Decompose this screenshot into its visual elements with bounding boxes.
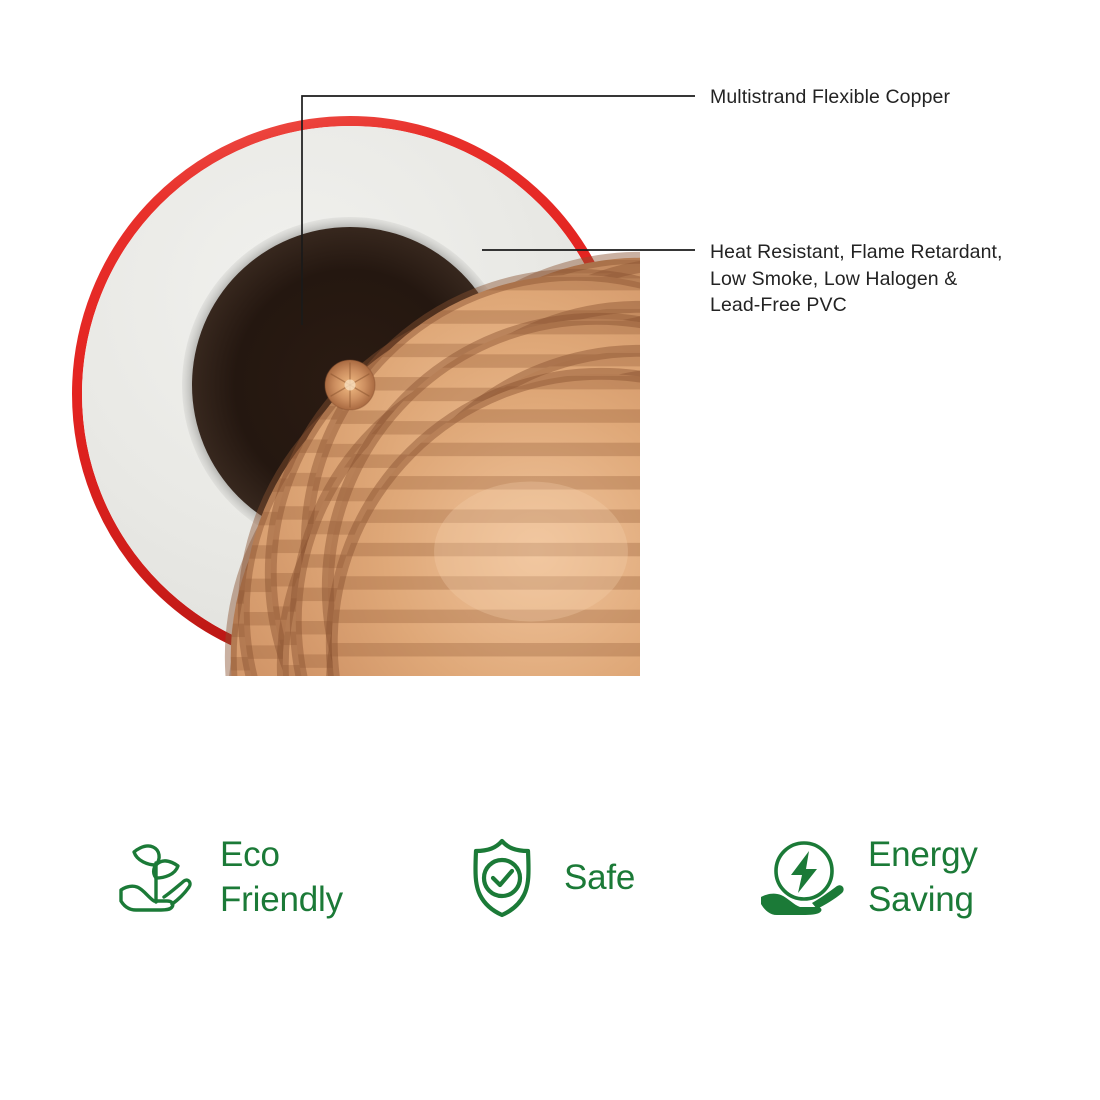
feature-label-eco-friendly: Eco Friendly: [220, 832, 343, 922]
shield-check-icon: [462, 833, 542, 921]
feature-badge-eco-friendly: Eco Friendly: [110, 812, 343, 942]
hand-sprout-icon: [110, 831, 202, 923]
cable-cross-section-svg: [60, 116, 640, 676]
center-copper-strand: [325, 360, 375, 410]
cable-cross-section-diagram: [60, 116, 640, 676]
callout-multistrand-copper: Multistrand Flexible Copper: [710, 84, 950, 111]
hand-bolt-icon: [757, 833, 852, 921]
callout-pvc-insulation: Heat Resistant, Flame Retardant, Low Smo…: [710, 239, 1003, 319]
feature-badge-row: Eco Friendly Safe: [0, 812, 1100, 942]
copper-conductor-bundle: [182, 217, 640, 676]
feature-label-safe: Safe: [564, 855, 635, 900]
feature-badge-safe: Safe: [462, 812, 635, 942]
feature-label-energy-saving: Energy Saving: [868, 832, 978, 922]
infographic-canvas: Multistrand Flexible Copper Heat Resista…: [0, 0, 1100, 1100]
feature-badge-energy-saving: Energy Saving: [757, 812, 978, 942]
